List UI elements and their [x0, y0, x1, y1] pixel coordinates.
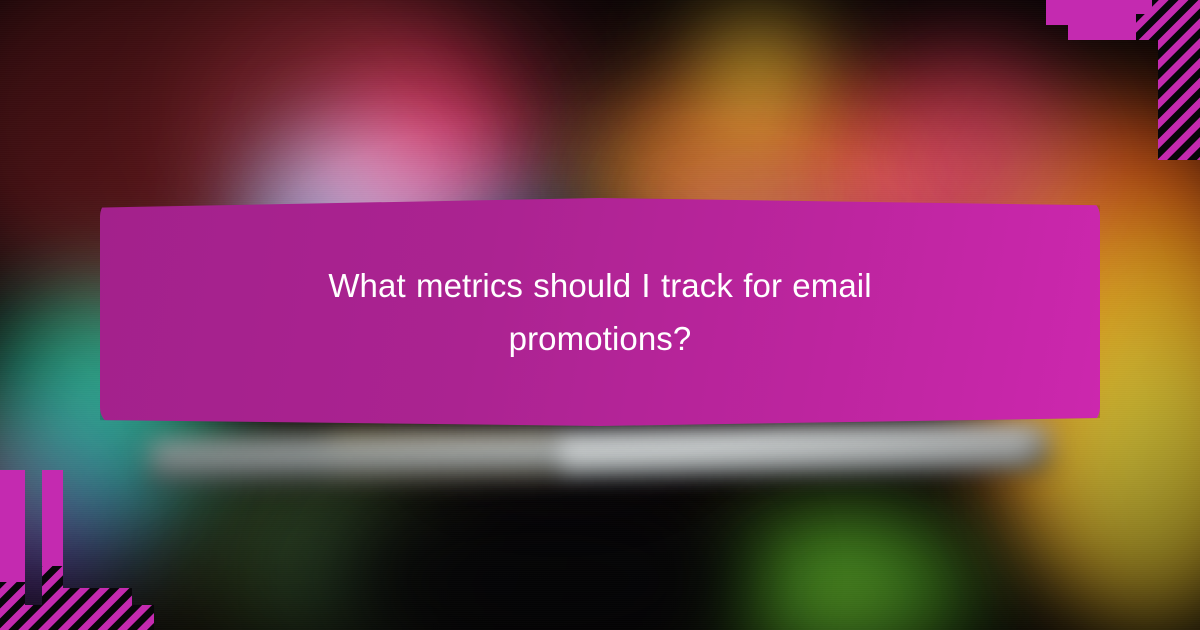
quote-card-canvas: What metrics should I track for email pr…	[0, 0, 1200, 630]
quote-card: What metrics should I track for email pr…	[100, 198, 1100, 426]
quote-text: What metrics should I track for email pr…	[260, 259, 940, 366]
background-blob	[1010, 470, 1105, 570]
quote-content: What metrics should I track for email pr…	[260, 259, 940, 366]
